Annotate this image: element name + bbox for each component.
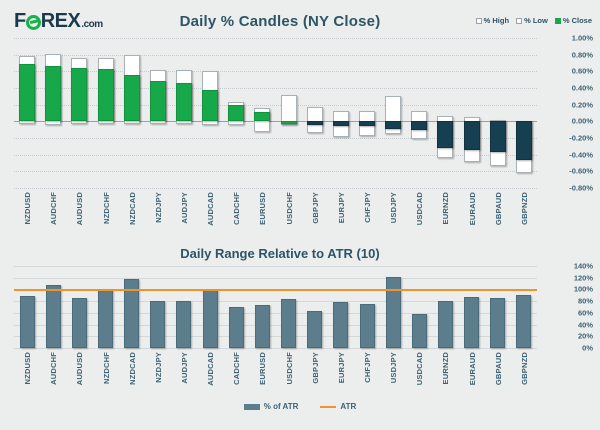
chart1-y-tick-label: -0.20% — [569, 134, 593, 143]
chart1-zero-axis — [14, 121, 537, 122]
legend-item-high: % High — [476, 16, 509, 25]
chart1-x-tick-label: NZDUSD — [23, 192, 32, 224]
candle-body — [228, 105, 244, 122]
chart2-x-tick-label: CADCHF — [232, 352, 241, 385]
chart1-y-tick-label: -0.40% — [569, 150, 593, 159]
legend-item-atr: ATR — [320, 402, 356, 411]
chart2-x-tick-label: GBPJPY — [311, 352, 320, 384]
chart2-gridline — [14, 313, 537, 314]
candle-NZDCHF[interactable] — [98, 38, 114, 188]
chart1-y-tick-label: 0.20% — [572, 100, 593, 109]
chart1-x-tick-label: USDCAD — [415, 192, 424, 225]
chart1-gridline — [14, 171, 537, 172]
daily-percent-candles-chart: 1.00%0.80%0.60%0.40%0.20%0.00%-0.20%-0.4… — [0, 36, 600, 231]
chart2-legend: % of ATR ATR — [0, 402, 600, 411]
candle-USDCAD[interactable] — [411, 38, 427, 188]
chart1-gridline — [14, 55, 537, 56]
candle-USDCHF[interactable] — [281, 38, 297, 188]
chart2-x-tick-label: USDCHF — [285, 352, 294, 384]
header-bar: FREX.com Daily % Candles (NY Close) % Hi… — [0, 0, 600, 36]
atr-bar-EURAUD[interactable] — [464, 297, 479, 348]
chart2-x-tick-label: AUDUSD — [75, 352, 84, 385]
candle-body — [411, 121, 427, 129]
chart1-y-tick-label: -0.80% — [569, 184, 593, 193]
legend-swatch-high-icon — [476, 18, 482, 24]
candle-AUDJPY[interactable] — [176, 38, 192, 188]
chart1-y-tick-label: -0.60% — [569, 167, 593, 176]
chart1-gridline — [14, 71, 537, 72]
atr-bar-GBPAUD[interactable] — [490, 298, 505, 348]
chart1-x-tick-label: AUDCAD — [206, 192, 215, 226]
legend-swatch-low-icon — [516, 18, 522, 24]
candle-body — [176, 83, 192, 121]
candle-wick — [281, 95, 297, 125]
atr-bar-EURNZD[interactable] — [438, 301, 453, 348]
chart2-x-tick-label: CHFJPY — [363, 352, 372, 383]
chart2-x-tick-label: AUDCAD — [206, 352, 215, 386]
atr-bar-NZDCHF[interactable] — [98, 289, 113, 348]
candle-body — [307, 121, 323, 124]
chart1-y-tick-label: 0.80% — [572, 50, 593, 59]
legend-swatch-close-icon — [555, 18, 561, 24]
candle-EURJPY[interactable] — [333, 38, 349, 188]
atr-bar-EURJPY[interactable] — [333, 302, 348, 348]
chart1-x-tick-label: CADCHF — [232, 192, 241, 225]
candle-body — [464, 121, 480, 149]
chart2-gridline — [14, 325, 537, 326]
chart2-gridline — [14, 266, 537, 267]
chart2-plot-area — [14, 266, 537, 348]
chart1-x-axis: NZDUSDAUDCHFAUDUSDNZDCHFNZDCADNZDJPYAUDJ… — [14, 190, 537, 232]
chart2-y-tick-label: 120% — [574, 273, 593, 282]
atr-bar-NZDUSD[interactable] — [20, 296, 35, 348]
chart1-x-tick-label: GBPJPY — [311, 192, 320, 224]
candle-USDJPY[interactable] — [385, 38, 401, 188]
chart2-x-tick-label: EURAUD — [468, 352, 477, 385]
legend-item-low: % Low — [516, 16, 548, 25]
candle-body — [202, 90, 218, 122]
atr-bar-GBPNZD[interactable] — [516, 295, 531, 348]
chart1-gridline — [14, 155, 537, 156]
chart1-x-tick-label: USDCHF — [285, 192, 294, 224]
candle-body — [516, 121, 532, 160]
atr-bar-AUDCHF[interactable] — [46, 285, 61, 348]
chart2-y-tick-label: 140% — [574, 262, 593, 271]
chart1-x-tick-label: EURJPY — [337, 192, 346, 223]
chart2-x-tick-label: EURNZD — [441, 352, 450, 384]
atr-reference-line — [14, 289, 537, 291]
chart1-x-tick-label: CHFJPY — [363, 192, 372, 223]
legend-label-low: % Low — [524, 16, 548, 25]
candle-NZDCAD[interactable] — [124, 38, 140, 188]
chart1-x-tick-label: NZDCHF — [102, 192, 111, 224]
candle-AUDCHF[interactable] — [45, 38, 61, 188]
chart1-x-tick-label: NZDCAD — [128, 192, 137, 225]
chart1-x-tick-label: EURAUD — [468, 192, 477, 225]
candle-body — [333, 121, 349, 126]
chart2-y-tick-label: 80% — [578, 297, 593, 306]
chart2-x-tick-label: GBPNZD — [520, 352, 529, 385]
atr-bar-EURUSD[interactable] — [255, 305, 270, 348]
chart1-x-tick-label: USDJPY — [389, 192, 398, 223]
candle-body — [385, 121, 401, 129]
atr-bar-CHFJPY[interactable] — [360, 304, 375, 349]
candle-EURUSD[interactable] — [254, 38, 270, 188]
candle-body — [281, 121, 297, 124]
chart2-x-tick-label: NZDCAD — [128, 352, 137, 385]
candle-body — [254, 112, 270, 121]
chart1-y-axis: 1.00%0.80%0.60%0.40%0.20%0.00%-0.20%-0.4… — [545, 36, 597, 191]
chart1-x-tick-label: AUDJPY — [180, 192, 189, 224]
legend-swatch-atr-line-icon — [320, 406, 336, 408]
chart1-x-tick-label: GBPAUD — [494, 192, 503, 225]
candle-CADCHF[interactable] — [228, 38, 244, 188]
chart1-x-tick-label: EURUSD — [258, 192, 267, 225]
candle-GBPAUD[interactable] — [490, 38, 506, 188]
chart2-gridline — [14, 348, 537, 349]
legend-label-atr: ATR — [340, 402, 356, 411]
atr-bar-CADCHF[interactable] — [229, 307, 244, 348]
candle-EURAUD[interactable] — [464, 38, 480, 188]
candle-NZDJPY[interactable] — [150, 38, 166, 188]
chart2-x-tick-label: AUDJPY — [180, 352, 189, 384]
chart2-gridline — [14, 301, 537, 302]
chart1-x-tick-label: GBPNZD — [520, 192, 529, 225]
chart2-y-axis: 140%120%100%80%60%40%20%0% — [545, 262, 597, 352]
chart2-y-tick-label: 0% — [582, 344, 593, 353]
chart2-x-tick-label: EURUSD — [258, 352, 267, 385]
chart2-y-tick-label: 40% — [578, 320, 593, 329]
atr-bar-AUDCAD[interactable] — [203, 290, 218, 348]
legend-item-pct-of-atr: % of ATR — [244, 402, 299, 411]
chart2-x-tick-label: GBPAUD — [494, 352, 503, 385]
candle-NZDUSD[interactable] — [19, 38, 35, 188]
atr-bar-GBPJPY[interactable] — [307, 311, 322, 348]
legend-label-close: % Close — [563, 16, 592, 25]
candle-AUDCAD[interactable] — [202, 38, 218, 188]
atr-bar-USDCHF[interactable] — [281, 299, 296, 348]
chart1-y-tick-label: 0.00% — [572, 117, 593, 126]
candle-body — [359, 121, 375, 126]
chart2-x-tick-label: USDJPY — [389, 352, 398, 383]
chart1-gridline — [14, 88, 537, 89]
chart2-x-axis: NZDUSDAUDCHFAUDUSDNZDCHFNZDCADNZDJPYAUDJ… — [14, 350, 537, 392]
chart1-gridline — [14, 188, 537, 189]
chart1-plot-area — [14, 38, 537, 188]
candle-EURNZD[interactable] — [437, 38, 453, 188]
candle-AUDUSD[interactable] — [71, 38, 87, 188]
atr-bar-USDJPY[interactable] — [386, 277, 401, 348]
candle-body — [98, 69, 114, 122]
chart2-y-tick-label: 20% — [578, 332, 593, 341]
atr-bar-AUDJPY[interactable] — [176, 301, 191, 348]
chart1-gridline — [14, 105, 537, 106]
chart2-y-tick-label: 60% — [578, 308, 593, 317]
legend-label-pct-atr: % of ATR — [264, 402, 299, 411]
candle-body — [71, 68, 87, 121]
chart1-x-tick-label: AUDCHF — [49, 192, 58, 225]
legend-item-close: % Close — [555, 16, 592, 25]
legend-swatch-pct-atr-icon — [244, 404, 260, 410]
chart1-gridline — [14, 138, 537, 139]
candle-body — [45, 66, 61, 121]
daily-range-atr-chart: Daily Range Relative to ATR (10) 140%120… — [0, 240, 600, 430]
chart1-gridline — [14, 38, 537, 39]
chart2-gridline — [14, 278, 537, 279]
atr-bar-USDCAD[interactable] — [412, 314, 427, 348]
chart1-y-tick-label: 0.60% — [572, 67, 593, 76]
candle-wick — [307, 107, 323, 133]
candle-CHFJPY[interactable] — [359, 38, 375, 188]
chart1-y-tick-label: 1.00% — [572, 34, 593, 43]
chart2-x-tick-label: AUDCHF — [49, 352, 58, 385]
chart2-x-tick-label: NZDUSD — [23, 352, 32, 384]
legend-label-high: % High — [484, 16, 509, 25]
chart1-x-tick-label: NZDJPY — [154, 192, 163, 223]
candle-body — [490, 121, 506, 152]
chart2-x-tick-label: NZDJPY — [154, 352, 163, 383]
chart2-x-tick-label: EURJPY — [337, 352, 346, 383]
chart2-x-tick-label: NZDCHF — [102, 352, 111, 384]
candle-GBPNZD[interactable] — [516, 38, 532, 188]
chart1-legend: % High % Low % Close — [476, 16, 592, 25]
atr-bar-NZDJPY[interactable] — [150, 301, 165, 348]
candle-GBPJPY[interactable] — [307, 38, 323, 188]
candle-body — [19, 64, 35, 122]
chart2-y-tick-label: 100% — [574, 285, 593, 294]
chart1-y-tick-label: 0.40% — [572, 84, 593, 93]
candle-body — [150, 81, 166, 121]
chart1-x-tick-label: EURNZD — [441, 192, 450, 224]
candle-body — [124, 75, 140, 122]
candle-body — [437, 121, 453, 148]
chart1-x-tick-label: AUDUSD — [75, 192, 84, 225]
chart2-gridline — [14, 336, 537, 337]
chart2-title: Daily Range Relative to ATR (10) — [0, 246, 600, 261]
chart2-x-tick-label: USDCAD — [415, 352, 424, 385]
atr-bar-AUDUSD[interactable] — [72, 298, 87, 348]
